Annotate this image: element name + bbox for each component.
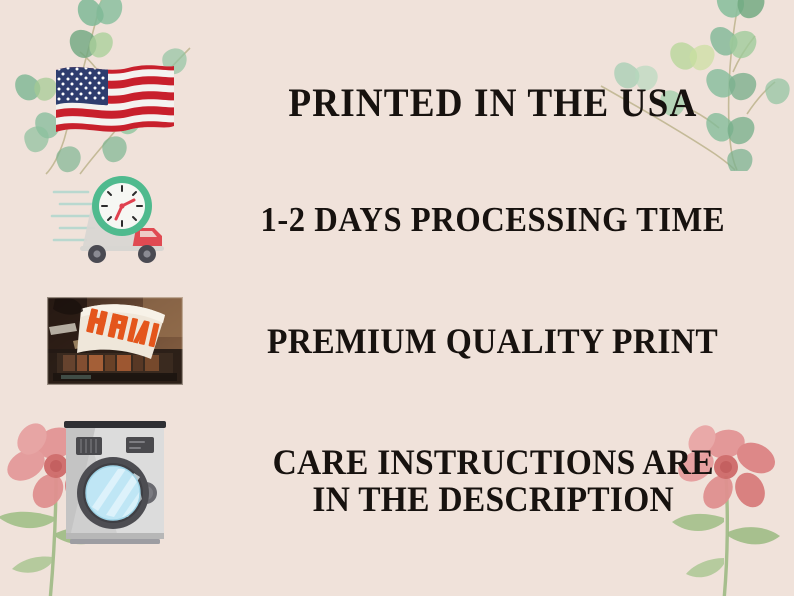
text-cell-care-instructions: CARE INSTRUCTIONS ARE IN THE DESCRIPTION [230,444,794,517]
headline-care-line-2: IN THE DESCRIPTION [272,481,713,518]
screen-printing-photo-icon [47,297,183,385]
fast-delivery-truck-clock-icon [50,170,180,270]
headline-premium-quality: PREMIUM QUALITY PRINT [267,323,718,360]
headline-printed-in-usa: PRINTED IN THE USA [288,83,697,124]
headline-care-line-1: CARE INSTRUCTIONS ARE [272,444,713,481]
feature-row-printed-in-usa: PRINTED IN THE USA [0,46,794,161]
text-cell-printed-in-usa: PRINTED IN THE USA [230,83,794,124]
text-cell-premium-quality: PREMIUM QUALITY PRINT [230,323,794,360]
usa-flag-icon [52,60,178,146]
icon-cell-usa-flag [0,46,230,161]
headline-care-instructions: CARE INSTRUCTIONS ARE IN THE DESCRIPTION [272,444,713,517]
feature-row-processing-time: 1-2 DAYS PROCESSING TIME [0,163,794,278]
icon-cell-screen-printing [0,284,230,399]
feature-row-care-instructions: CARE INSTRUCTIONS ARE IN THE DESCRIPTION [0,411,794,551]
icon-cell-washing-machine [0,411,230,551]
text-cell-processing-time: 1-2 DAYS PROCESSING TIME [230,202,794,238]
poster-canvas: PRINTED IN THE USA [0,0,794,596]
icon-cell-fast-delivery [0,163,230,278]
washing-machine-icon [56,411,174,551]
headline-processing-time: 1-2 DAYS PROCESSING TIME [261,202,726,238]
feature-row-premium-quality: PREMIUM QUALITY PRINT [0,284,794,399]
